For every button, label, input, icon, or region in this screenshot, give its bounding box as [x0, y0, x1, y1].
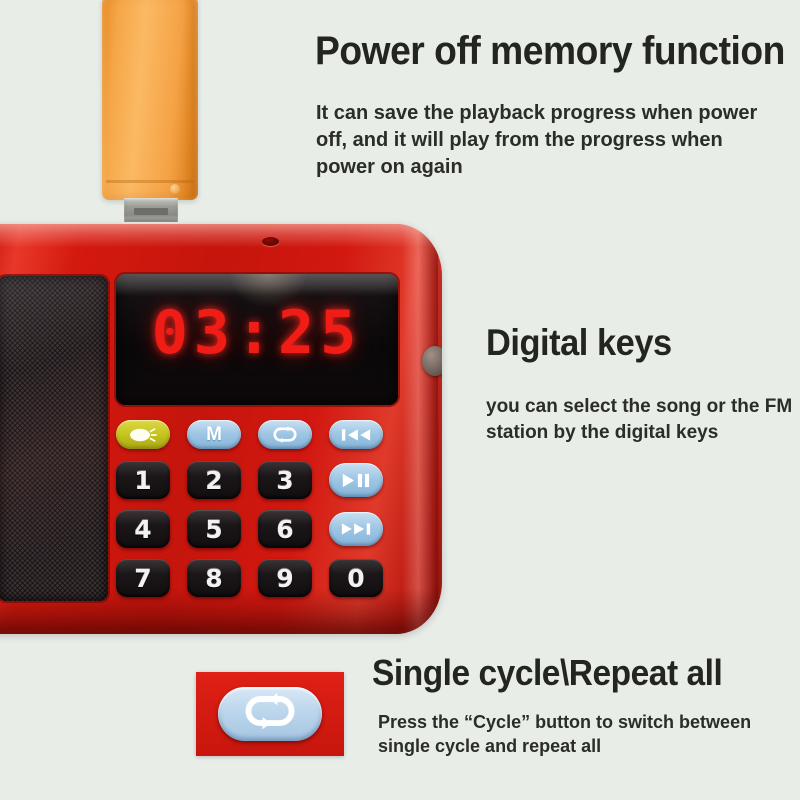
key-0[interactable]: 0	[329, 559, 383, 597]
callout-cycle-button[interactable]	[218, 687, 322, 741]
cycle-button[interactable]	[258, 420, 312, 449]
feature-body-power-off-memory: It can save the playback progress when p…	[316, 100, 786, 182]
status-led-icon	[262, 237, 279, 246]
play-pause-button[interactable]	[329, 463, 383, 497]
control-panel: M 1 2	[116, 420, 384, 608]
case-top-highlight	[0, 224, 442, 250]
mode-button[interactable]: M	[187, 420, 241, 449]
key-9[interactable]: 9	[258, 559, 312, 597]
usb-body	[102, 0, 198, 200]
play-pause-icon	[340, 472, 372, 489]
usb-connector-slot	[134, 208, 168, 215]
next-track-button[interactable]	[329, 512, 383, 546]
feature-heading-power-off-memory: Power off memory function	[315, 29, 785, 74]
key-label: 7	[134, 564, 151, 593]
light-bulb-icon	[128, 426, 158, 444]
cycle-button-callout	[196, 672, 344, 756]
key-7[interactable]: 7	[116, 559, 170, 597]
feature-body-single-cycle: Press the “Cycle” button to switch betwe…	[378, 710, 798, 759]
next-track-icon	[340, 521, 372, 537]
repeat-cycle-icon	[270, 425, 300, 445]
key-label: 2	[205, 466, 222, 495]
led-display: 03:25	[116, 274, 398, 405]
key-label: 4	[134, 515, 151, 544]
feature-body-digital-keys: you can select the song or the FM statio…	[486, 394, 796, 446]
key-6[interactable]: 6	[258, 510, 312, 548]
mode-icon: M	[206, 424, 222, 446]
previous-track-icon	[340, 427, 372, 443]
key-label: 1	[134, 466, 151, 495]
feature-heading-digital-keys: Digital keys	[486, 322, 672, 364]
usb-body-seam	[106, 180, 194, 183]
key-label: 8	[205, 564, 222, 593]
key-label: 6	[276, 515, 293, 544]
case-side-highlight	[402, 224, 438, 634]
usb-led-dot	[170, 184, 180, 194]
portable-radio-player: 03:25 M	[0, 224, 442, 634]
light-button[interactable]	[116, 420, 170, 449]
key-label: 5	[205, 515, 222, 544]
key-8[interactable]: 8	[187, 559, 241, 597]
key-2[interactable]: 2	[187, 461, 241, 499]
key-3[interactable]: 3	[258, 461, 312, 499]
key-label: 3	[276, 466, 293, 495]
volume-knob-icon[interactable]	[422, 346, 442, 376]
key-label: 9	[276, 564, 293, 593]
key-1[interactable]: 1	[116, 461, 170, 499]
speaker-grille-sheen	[0, 276, 108, 601]
feature-heading-single-cycle: Single cycle\Repeat all	[372, 652, 722, 694]
previous-track-button[interactable]	[329, 420, 383, 449]
key-4[interactable]: 4	[116, 510, 170, 548]
repeat-cycle-icon	[238, 691, 302, 738]
key-label: 0	[347, 564, 364, 593]
display-value: 03:25	[116, 298, 398, 368]
usb-flash-drive	[98, 0, 202, 220]
speaker-grille	[0, 276, 108, 601]
key-5[interactable]: 5	[187, 510, 241, 548]
